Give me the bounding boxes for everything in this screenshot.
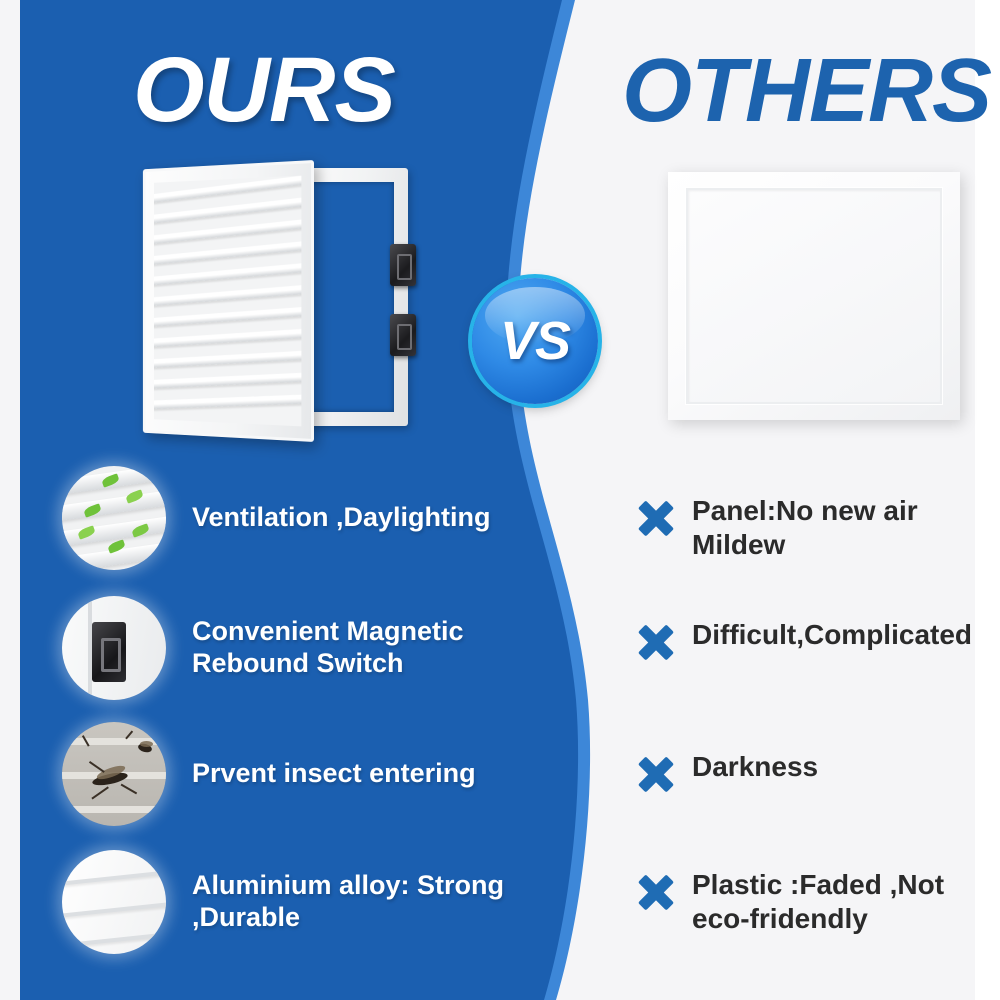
x-mark-icon	[634, 620, 678, 664]
page-title-ours: OURS	[133, 38, 395, 143]
x-mark-icon	[634, 496, 678, 540]
x-mark-icon	[634, 752, 678, 796]
con-item-plastic: Plastic :Faded ,Not eco-fridendly	[634, 868, 986, 935]
louver-slat	[154, 307, 301, 327]
louver-leaves-icon	[62, 466, 166, 570]
pro-item-aluminium: Aluminium alloy: Strong ,Durable	[62, 850, 542, 954]
versus-label: VS	[472, 278, 598, 404]
pro-item-ventilation: Ventilation ,Daylighting	[62, 466, 542, 570]
magnetic-switch-icon	[62, 596, 166, 700]
louver-slat	[154, 241, 301, 265]
pro-item-insect: Prvent insect entering	[62, 722, 542, 826]
comparison-infographic: OURS OTHERS VS	[0, 0, 1000, 1000]
pro-item-label: Aluminium alloy: Strong ,Durable	[192, 870, 542, 934]
louver-slat	[154, 176, 301, 203]
louver-slat	[154, 372, 301, 388]
product-image-ours	[118, 160, 408, 440]
pro-item-label: Convenient Magnetic Rebound Switch	[192, 616, 542, 680]
con-item-label: Difficult,Complicated	[692, 618, 972, 652]
pro-item-label: Ventilation ,Daylighting	[192, 502, 491, 534]
con-item-label: Panel:No new air Mildew	[692, 494, 918, 561]
con-item-darkness: Darkness	[634, 750, 986, 796]
panel-inset-border	[686, 188, 942, 404]
louver-slat	[154, 329, 301, 348]
con-item-label: Darkness	[692, 750, 818, 784]
con-item-no-new-air: Panel:No new air Mildew	[634, 494, 986, 561]
louvered-door	[143, 160, 314, 442]
page-title-others: OTHERS	[622, 40, 991, 143]
magnetic-catch-icon	[390, 244, 416, 286]
product-image-others	[668, 172, 960, 420]
pro-item-label: Prvent insect entering	[192, 758, 476, 790]
pro-item-magnetic-switch: Convenient Magnetic Rebound Switch	[62, 596, 542, 700]
magnetic-catch-icon	[390, 314, 416, 356]
louver-slat	[154, 219, 301, 244]
louver-slats	[154, 176, 301, 427]
insect-icon	[62, 722, 166, 826]
x-mark-icon	[634, 870, 678, 914]
con-item-label: Plastic :Faded ,Not eco-fridendly	[692, 868, 944, 935]
louver-slat	[154, 197, 301, 224]
louver-slat	[154, 263, 301, 286]
louver-slat	[154, 350, 301, 367]
louver-slat	[154, 394, 301, 409]
versus-badge: VS	[472, 278, 598, 404]
aluminium-slat-icon	[62, 850, 166, 954]
con-item-difficult: Difficult,Complicated	[634, 618, 994, 664]
louver-slat	[154, 285, 301, 306]
